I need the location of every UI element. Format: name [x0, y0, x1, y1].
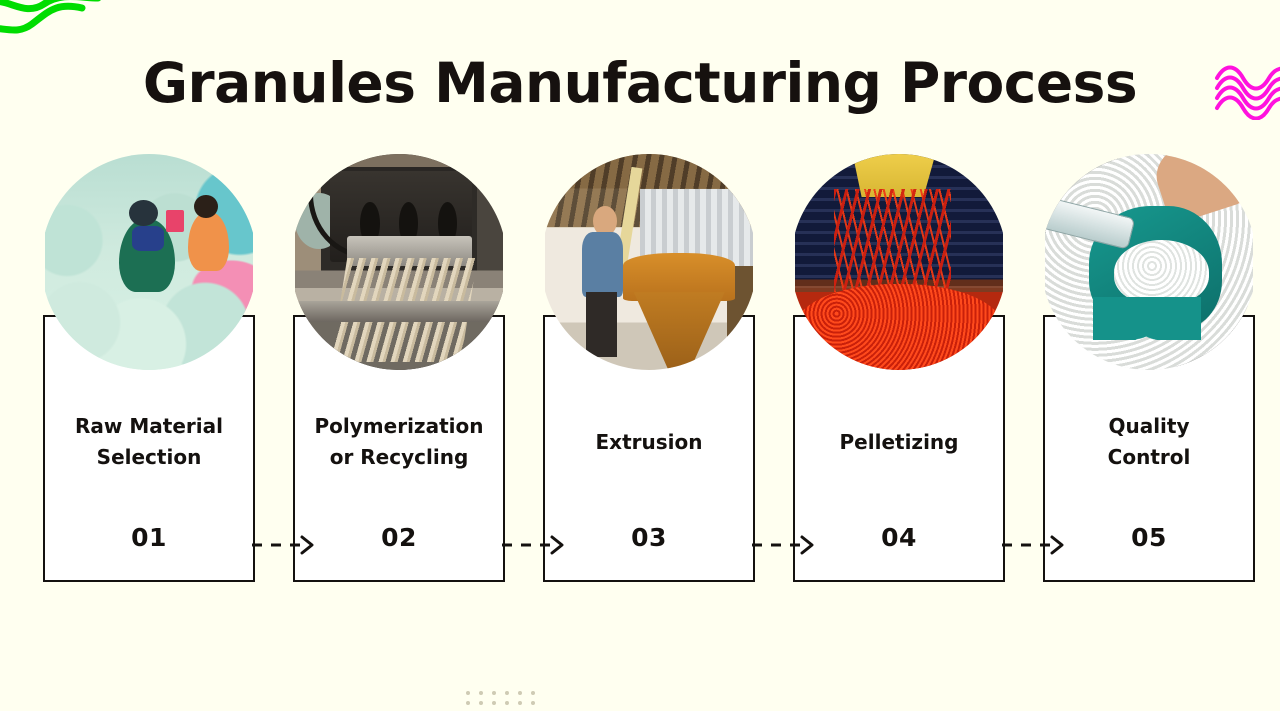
step-card-4[interactable]: Pelletizing 04 [793, 315, 1005, 582]
step-label-line: Control [1051, 442, 1247, 473]
step-number-4: 04 [795, 523, 1003, 553]
dot-grid [466, 691, 544, 710]
step-card-2[interactable]: Polymerization or Recycling 02 [293, 315, 505, 582]
step-label-line: Selection [51, 442, 247, 473]
grid-dot [505, 701, 509, 705]
step-label-line: Polymerization [301, 411, 497, 442]
step-label-line: Extrusion [551, 427, 747, 458]
grid-dot [466, 701, 470, 705]
step-label-line: Raw Material [51, 411, 247, 442]
arrow-step-1-to-2 [250, 532, 316, 558]
grid-dot [479, 701, 483, 705]
process-step-2[interactable]: Polymerization or Recycling 02 [293, 148, 507, 584]
arrow-step-2-to-3 [500, 532, 566, 558]
step-label-line: Pelletizing [801, 427, 997, 458]
step-number-2: 02 [295, 523, 503, 553]
arrow-step-3-to-4 [750, 532, 816, 558]
step-label-2: Polymerization or Recycling [301, 411, 497, 473]
step-label-3: Extrusion [551, 427, 747, 458]
page-title: Granules Manufacturing Process [0, 48, 1280, 118]
step-label-5: Quality Control [1051, 411, 1247, 473]
step-card-3[interactable]: Extrusion 03 [543, 315, 755, 582]
step-number-5: 05 [1045, 523, 1253, 553]
process-steps: Raw Material Selection 01 Polym [43, 148, 1258, 584]
grid-dot [466, 691, 470, 695]
step-label-4: Pelletizing [801, 427, 997, 458]
process-step-4[interactable]: Pelletizing 04 [793, 148, 1007, 584]
step-label-line: or Recycling [301, 442, 497, 473]
process-step-1[interactable]: Raw Material Selection 01 [43, 148, 257, 584]
grid-dot [518, 691, 522, 695]
green-wave-squiggle [0, 0, 116, 48]
grid-dot [479, 691, 483, 695]
step-card-5[interactable]: Quality Control 05 [1043, 315, 1255, 582]
grid-dot [531, 691, 535, 695]
arrow-step-4-to-5 [1000, 532, 1066, 558]
step-label-1: Raw Material Selection [51, 411, 247, 473]
grid-dot [518, 701, 522, 705]
process-step-3[interactable]: Extrusion 03 [543, 148, 757, 584]
step-label-line: Quality [1051, 411, 1247, 442]
infographic-canvas: Granules Manufacturing Process Raw Mater… [0, 0, 1280, 711]
step-card-1[interactable]: Raw Material Selection 01 [43, 315, 255, 582]
grid-dot [505, 691, 509, 695]
grid-dot [492, 691, 496, 695]
grid-dot [492, 701, 496, 705]
process-step-5[interactable]: Quality Control 05 [1043, 148, 1257, 584]
step-number-1: 01 [45, 523, 253, 553]
grid-dot [531, 701, 535, 705]
step-number-3: 03 [545, 523, 753, 553]
